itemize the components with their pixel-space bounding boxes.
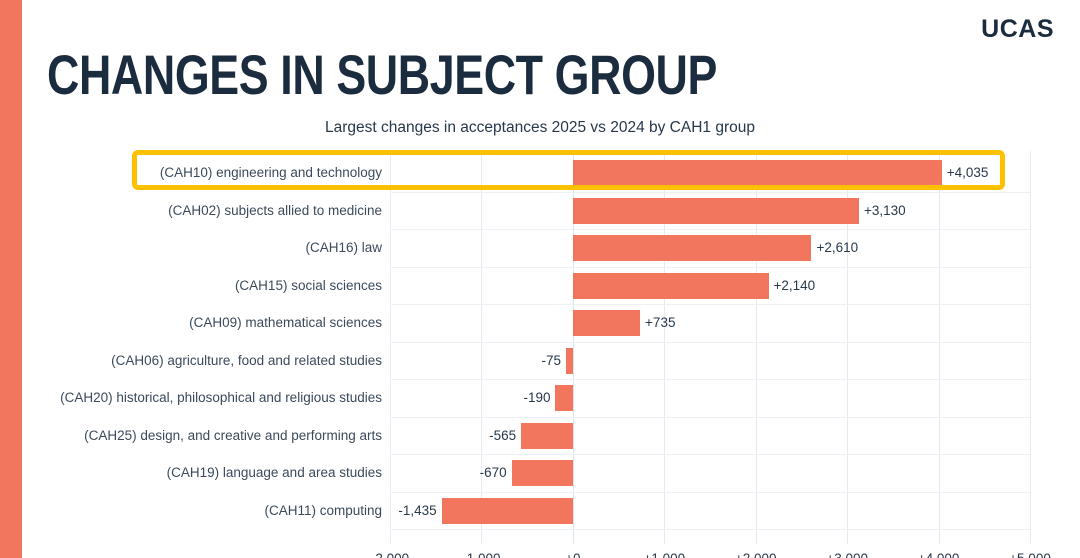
category-row: (CAH06) agriculture, food and related st… <box>10 342 382 380</box>
bar-value-label: +735 <box>645 313 675 333</box>
x-tick-label: +0 <box>565 550 580 558</box>
bar-value-label: +3,130 <box>864 201 906 221</box>
x-tick-label: +4,000 <box>918 550 960 558</box>
bar[interactable] <box>521 423 573 449</box>
page-title: CHANGES IN SUBJECT GROUP <box>47 47 717 103</box>
bar[interactable] <box>573 310 640 336</box>
chart-row[interactable]: +3,130 <box>390 192 1030 230</box>
chart-plot-area: +4,035+3,130+2,610+2,140+735-75-190-565-… <box>390 151 1030 544</box>
bar[interactable] <box>512 460 573 486</box>
bar-value-label: -190 <box>523 388 550 408</box>
category-row: (CAH09) mathematical sciences <box>10 304 382 342</box>
category-label: (CAH20) historical, philosophical and re… <box>12 388 382 408</box>
bar[interactable] <box>566 348 573 374</box>
chart-row[interactable]: +2,610 <box>390 229 1030 267</box>
category-row: (CAH02) subjects allied to medicine <box>10 192 382 230</box>
bar-value-label: -565 <box>489 426 516 446</box>
category-row: (CAH16) law <box>10 229 382 267</box>
bar[interactable] <box>573 160 942 186</box>
ucas-logo: UCAS <box>981 17 1054 42</box>
x-tick-label: +5,000 <box>1009 550 1051 558</box>
x-tick-label: +1,000 <box>643 550 685 558</box>
bar-value-label: -1,435 <box>398 501 436 521</box>
chart-row[interactable]: +4,035 <box>390 154 1030 192</box>
chart-row[interactable]: -1,435 <box>390 492 1030 530</box>
bar-value-label: -670 <box>480 463 507 483</box>
category-label: (CAH09) mathematical sciences <box>12 313 382 333</box>
category-row: (CAH20) historical, philosophical and re… <box>10 379 382 417</box>
chart-row[interactable]: +2,140 <box>390 267 1030 305</box>
category-label: (CAH16) law <box>12 238 382 258</box>
x-axis: -2,000-1,000+0+1,000+2,000+3,000+4,000+5… <box>390 544 1030 558</box>
bar-value-label: +4,035 <box>947 163 989 183</box>
bar[interactable] <box>573 273 769 299</box>
category-row: (CAH19) language and area studies <box>10 454 382 492</box>
category-row: (CAH10) engineering and technology <box>10 154 382 192</box>
x-tick-label: -1,000 <box>462 550 500 558</box>
bar[interactable] <box>555 385 572 411</box>
category-label: (CAH06) agriculture, food and related st… <box>12 351 382 371</box>
bar-value-label: +2,610 <box>816 238 858 258</box>
x-tick-label: +3,000 <box>826 550 868 558</box>
bar[interactable] <box>442 498 573 524</box>
category-label: (CAH19) language and area studies <box>12 463 382 483</box>
x-tick-label: -2,000 <box>371 550 409 558</box>
category-row: (CAH25) design, and creative and perform… <box>10 417 382 455</box>
chart-row[interactable]: +735 <box>390 304 1030 342</box>
slide-canvas: UCAS CHANGES IN SUBJECT GROUP Largest ch… <box>0 0 1080 558</box>
category-label: (CAH10) engineering and technology <box>12 163 382 183</box>
bar[interactable] <box>573 235 812 261</box>
chart-row[interactable]: -75 <box>390 342 1030 380</box>
category-label: (CAH02) subjects allied to medicine <box>12 201 382 221</box>
x-tick-label: +2,000 <box>735 550 777 558</box>
chart-row[interactable]: -565 <box>390 417 1030 455</box>
bar[interactable] <box>573 198 859 224</box>
gridline-row <box>390 529 1030 530</box>
bar-value-label: +2,140 <box>774 276 816 296</box>
category-row: (CAH11) computing <box>10 492 382 530</box>
chart-title: Largest changes in acceptances 2025 vs 2… <box>0 118 1080 138</box>
chart-row[interactable]: -670 <box>390 454 1030 492</box>
category-label: (CAH11) computing <box>12 501 382 521</box>
gridline-x-5000 <box>1030 151 1031 544</box>
category-axis-labels: (CAH10) engineering and technology(CAH02… <box>10 151 382 544</box>
category-label: (CAH25) design, and creative and perform… <box>12 426 382 446</box>
category-label: (CAH15) social sciences <box>12 276 382 296</box>
category-row: (CAH15) social sciences <box>10 267 382 305</box>
bar-value-label: -75 <box>541 351 561 371</box>
chart-row[interactable]: -190 <box>390 379 1030 417</box>
